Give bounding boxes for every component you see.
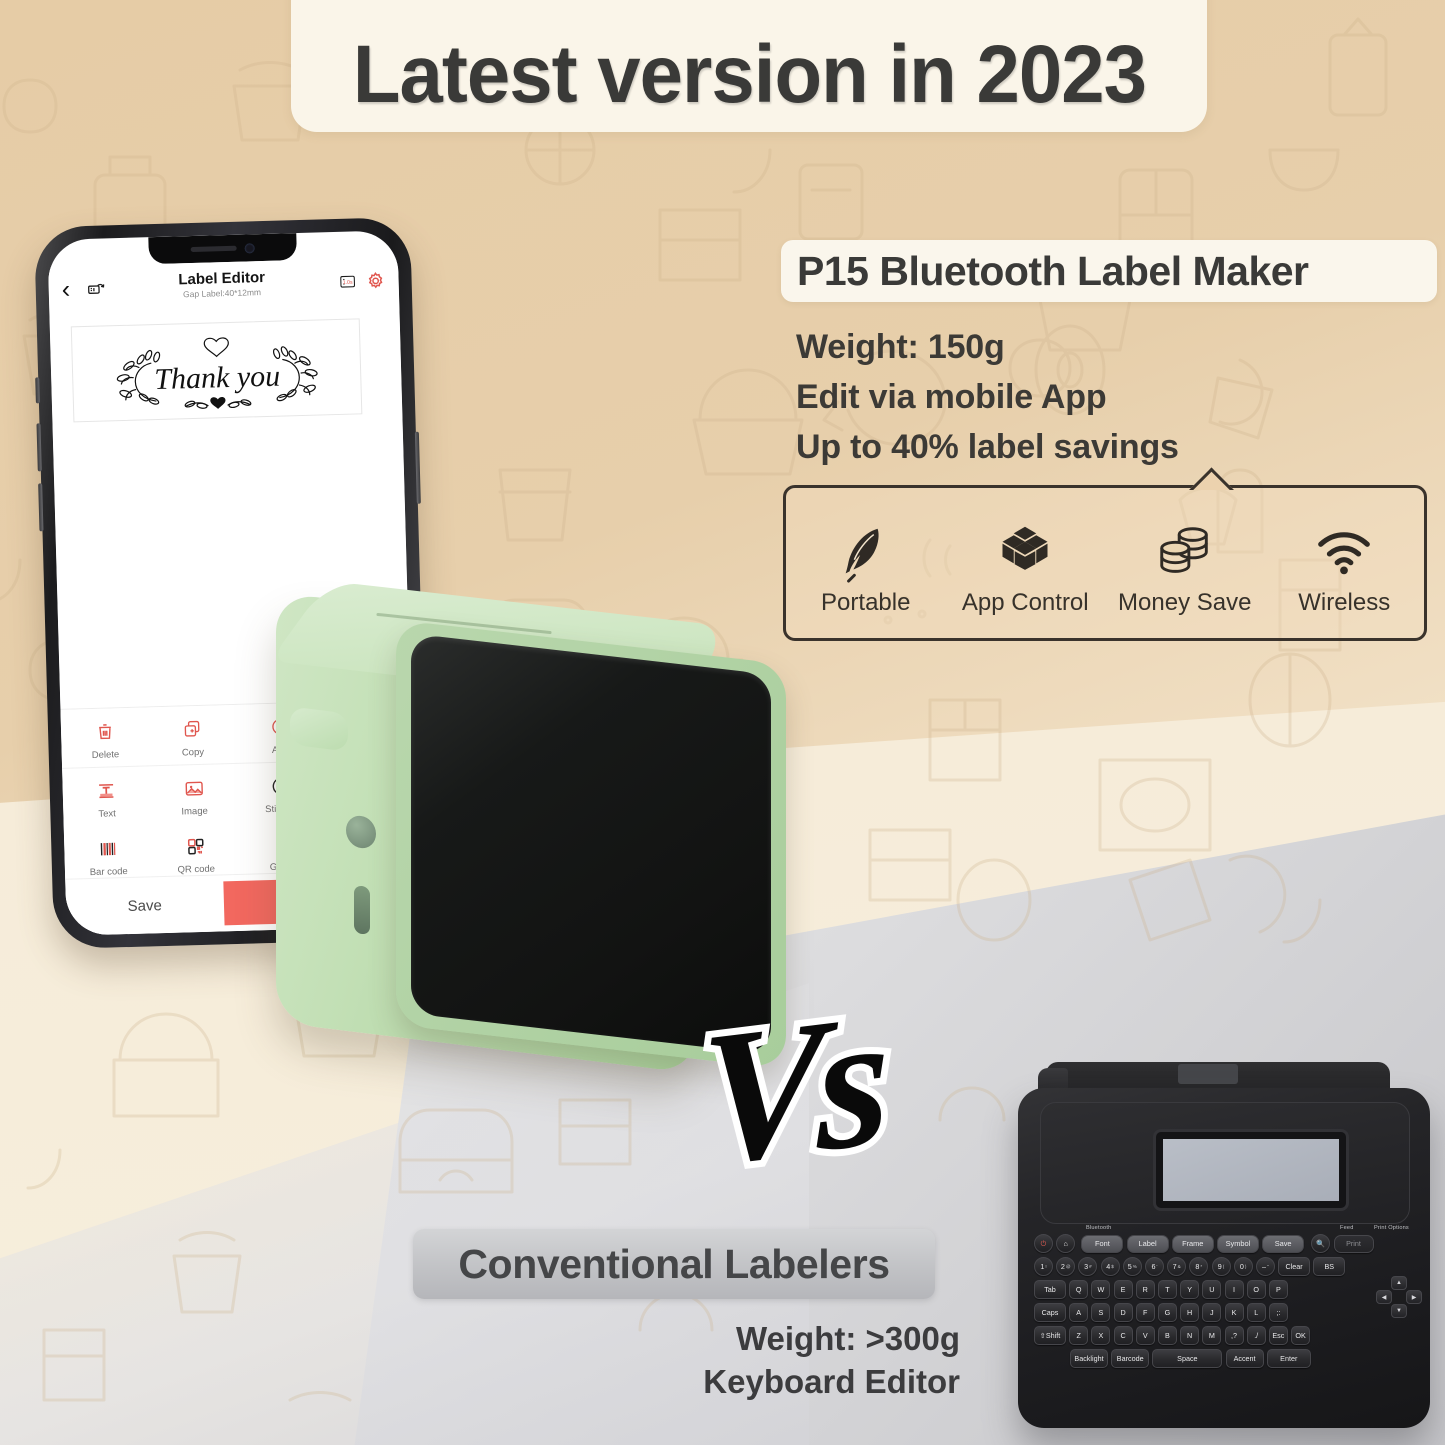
key-group-label-feed: Feed bbox=[1340, 1225, 1354, 1231]
dpad-up-icon[interactable]: ▲ bbox=[1391, 1276, 1407, 1290]
key-b[interactable]: B bbox=[1158, 1326, 1177, 1345]
key-enter[interactable]: Enter bbox=[1267, 1349, 1311, 1368]
qrcode-icon bbox=[185, 833, 207, 860]
key-shift[interactable]: ⇧Shift bbox=[1034, 1326, 1066, 1345]
poster-canvas: Latest version in 2023 ‹ bbox=[0, 0, 1445, 1445]
key-o[interactable]: O bbox=[1247, 1280, 1266, 1299]
key-y[interactable]: Y bbox=[1180, 1280, 1199, 1299]
keyboard-row-q: Tab Q W E R T Y U I O P bbox=[1034, 1280, 1426, 1299]
tool-label: Delete bbox=[92, 749, 120, 761]
tool-text[interactable]: Text bbox=[62, 776, 151, 820]
coins-icon bbox=[1154, 509, 1216, 583]
key-i[interactable]: I bbox=[1225, 1280, 1244, 1299]
conventional-weight: Weight: >300g bbox=[560, 1318, 960, 1361]
trash-icon bbox=[94, 718, 115, 745]
feature-app-control: App Control bbox=[946, 488, 1106, 638]
key-1[interactable]: 1! bbox=[1034, 1257, 1053, 1276]
labeler-keyboard: Bluetooth Feed Print Options ⏻ ⌂ Font La… bbox=[1034, 1232, 1426, 1444]
key-z[interactable]: Z bbox=[1069, 1326, 1088, 1345]
feather-icon bbox=[835, 509, 897, 583]
key-clear[interactable]: Clear bbox=[1278, 1257, 1310, 1276]
key-3[interactable]: 3# bbox=[1078, 1257, 1097, 1276]
labeler-lcd-screen bbox=[1163, 1139, 1339, 1201]
key-u[interactable]: U bbox=[1202, 1280, 1221, 1299]
key-font[interactable]: Font bbox=[1081, 1235, 1123, 1253]
phone-notch bbox=[148, 233, 297, 264]
key-home-bluetooth[interactable]: ⌂ bbox=[1056, 1234, 1075, 1253]
feature-label: Money Save bbox=[1118, 589, 1251, 617]
tool-image[interactable]: Image bbox=[150, 774, 239, 818]
feature-wireless: Wireless bbox=[1265, 488, 1425, 638]
key-comma[interactable]: ,? bbox=[1225, 1326, 1244, 1345]
dpad-cluster: ▲ ◀ ▶ ▼ bbox=[1376, 1276, 1420, 1316]
key-2[interactable]: 2@ bbox=[1056, 1257, 1075, 1276]
key-r[interactable]: R bbox=[1136, 1280, 1155, 1299]
label-frame-icon[interactable]: 1.0s bbox=[337, 271, 358, 292]
key-e[interactable]: E bbox=[1114, 1280, 1133, 1299]
key-6[interactable]: 6' bbox=[1145, 1257, 1164, 1276]
printer-usb-port bbox=[354, 885, 370, 935]
text-icon bbox=[96, 777, 118, 804]
product-name: P15 Bluetooth Label Maker bbox=[797, 248, 1309, 295]
vs-graphic: Vs bbox=[700, 995, 1020, 1225]
key-d[interactable]: D bbox=[1114, 1303, 1133, 1322]
key-ok[interactable]: OK bbox=[1291, 1326, 1310, 1345]
save-button[interactable]: Save bbox=[66, 895, 224, 916]
key-w[interactable]: W bbox=[1091, 1280, 1110, 1299]
thank-you-artwork: Thank you bbox=[75, 321, 357, 419]
image-icon bbox=[183, 775, 205, 802]
tool-copy[interactable]: Copy bbox=[148, 715, 237, 759]
tool-qrcode[interactable]: QR code bbox=[151, 832, 240, 876]
barcode-icon bbox=[97, 835, 119, 862]
keyboard-number-row: 1! 2@ 3# 4$ 5% 6' 7& 8* 9( 0) –" Clear B… bbox=[1034, 1257, 1426, 1276]
key-feed-search[interactable]: 🔍 bbox=[1311, 1234, 1330, 1253]
labeler-lcd-bezel bbox=[1153, 1129, 1349, 1211]
printer-front-panel bbox=[411, 633, 771, 1054]
key-0[interactable]: 0) bbox=[1234, 1257, 1253, 1276]
dpad-down-icon[interactable]: ▼ bbox=[1391, 1304, 1407, 1318]
tool-delete[interactable]: Delete bbox=[61, 717, 150, 761]
key-5[interactable]: 5% bbox=[1123, 1257, 1142, 1276]
app-title-block: Label Editor Gap Label:40*12mm bbox=[106, 268, 338, 302]
key-8[interactable]: 8* bbox=[1189, 1257, 1208, 1276]
product-name-banner: P15 Bluetooth Label Maker bbox=[781, 240, 1437, 302]
key-backspace[interactable]: BS bbox=[1313, 1257, 1345, 1276]
key-g[interactable]: G bbox=[1158, 1303, 1177, 1322]
feature-label: App Control bbox=[962, 589, 1089, 617]
key-v[interactable]: V bbox=[1136, 1326, 1155, 1345]
wifi-icon bbox=[1313, 509, 1375, 583]
keyboard-bottom-row: Backlight Barcode Space Accent Enter bbox=[1034, 1349, 1426, 1368]
tool-barcode[interactable]: Bar code bbox=[64, 834, 153, 878]
key-7[interactable]: 7& bbox=[1167, 1257, 1186, 1276]
tool-label: Copy bbox=[182, 747, 204, 759]
key-l[interactable]: L bbox=[1247, 1303, 1266, 1322]
label-text: Thank you bbox=[153, 360, 280, 397]
feature-money-save: Money Save bbox=[1105, 488, 1265, 638]
key-p[interactable]: P bbox=[1269, 1280, 1288, 1299]
product-specs: Weight: 150g Edit via mobile App Up to 4… bbox=[796, 325, 1445, 476]
key-c[interactable]: C bbox=[1114, 1326, 1133, 1345]
cube-icon bbox=[995, 509, 1055, 583]
spec-edit: Edit via mobile App bbox=[796, 375, 1445, 419]
key-accent[interactable]: Accent bbox=[1226, 1349, 1264, 1368]
conventional-title-banner: Conventional Labelers bbox=[413, 1229, 935, 1299]
key-group-label-bluetooth: Bluetooth bbox=[1086, 1225, 1111, 1231]
key-m[interactable]: M bbox=[1202, 1326, 1221, 1345]
tool-label: Image bbox=[181, 806, 208, 818]
key-f[interactable]: F bbox=[1136, 1303, 1155, 1322]
earpiece-speaker bbox=[191, 246, 237, 252]
key-backlight[interactable]: Backlight bbox=[1070, 1349, 1108, 1368]
key-tab[interactable]: Tab bbox=[1034, 1280, 1066, 1299]
conventional-labeler: Bluetooth Feed Print Options ⏻ ⌂ Font La… bbox=[1010, 1062, 1435, 1432]
key-frame[interactable]: Frame bbox=[1172, 1235, 1214, 1253]
spec-savings: Up to 40% label savings bbox=[796, 425, 1445, 469]
key-esc[interactable]: Esc bbox=[1269, 1326, 1288, 1345]
tool-label: Text bbox=[98, 808, 116, 819]
key-q[interactable]: Q bbox=[1069, 1280, 1088, 1299]
key-x[interactable]: X bbox=[1091, 1326, 1110, 1345]
copy-icon bbox=[182, 716, 203, 743]
key-period[interactable]: ./ bbox=[1247, 1326, 1266, 1345]
label-preview[interactable]: Thank you bbox=[71, 318, 363, 422]
labeler-display-panel bbox=[1040, 1102, 1410, 1224]
key-minus[interactable]: –" bbox=[1256, 1257, 1275, 1276]
key-label[interactable]: Label bbox=[1127, 1235, 1169, 1253]
conventional-editor: Keyboard Editor bbox=[560, 1361, 960, 1404]
labeler-body: Bluetooth Feed Print Options ⏻ ⌂ Font La… bbox=[1018, 1088, 1430, 1428]
key-barcode[interactable]: Barcode bbox=[1111, 1349, 1149, 1368]
rotate-label-icon[interactable] bbox=[86, 278, 107, 299]
key-4[interactable]: 4$ bbox=[1101, 1257, 1120, 1276]
key-k[interactable]: K bbox=[1225, 1303, 1244, 1322]
key-power[interactable]: ⏻ bbox=[1034, 1234, 1053, 1253]
key-symbol[interactable]: Symbol bbox=[1217, 1235, 1259, 1253]
key-t[interactable]: T bbox=[1158, 1280, 1177, 1299]
conventional-specs: Weight: >300g Keyboard Editor bbox=[560, 1318, 960, 1404]
key-h[interactable]: H bbox=[1180, 1303, 1199, 1322]
vs-label: Vs bbox=[699, 983, 882, 1196]
key-semicolon[interactable]: ;: bbox=[1269, 1303, 1288, 1322]
hero-title-banner: Latest version in 2023 bbox=[291, 0, 1207, 132]
conventional-title: Conventional Labelers bbox=[458, 1241, 889, 1288]
key-space[interactable]: Space bbox=[1152, 1349, 1222, 1368]
keyboard-row-z: ⇧Shift Z X C V B N M ,? ./ Esc OK bbox=[1034, 1326, 1426, 1345]
feature-label: Portable bbox=[821, 589, 910, 617]
key-group-label-print-options: Print Options bbox=[1374, 1225, 1409, 1231]
page-title: Latest version in 2023 bbox=[352, 34, 1145, 132]
front-camera bbox=[245, 243, 255, 253]
back-chevron-icon[interactable]: ‹ bbox=[61, 277, 70, 302]
key-a[interactable]: A bbox=[1069, 1303, 1088, 1322]
feature-label: Wireless bbox=[1298, 589, 1390, 617]
feature-portable: Portable bbox=[786, 488, 946, 638]
svg-text:1.0s: 1.0s bbox=[343, 280, 353, 286]
dpad-left-icon[interactable]: ◀ bbox=[1376, 1290, 1392, 1304]
feature-panel-pointer bbox=[1180, 462, 1240, 490]
keyboard-function-row: ⏻ ⌂ Font Label Frame Symbol Save 🔍 Print bbox=[1034, 1234, 1426, 1253]
key-save[interactable]: Save bbox=[1262, 1235, 1304, 1253]
dpad-right-icon[interactable]: ▶ bbox=[1406, 1290, 1422, 1304]
feature-panel: Portable App Control bbox=[783, 485, 1427, 641]
labeler-lid-tab bbox=[1178, 1064, 1238, 1084]
spec-weight: Weight: 150g bbox=[796, 325, 1445, 369]
key-print[interactable]: Print bbox=[1334, 1235, 1374, 1253]
key-j[interactable]: J bbox=[1202, 1303, 1221, 1322]
keyboard-row-a: Caps A S D F G H J K L ;: bbox=[1034, 1303, 1426, 1322]
key-s[interactable]: S bbox=[1091, 1303, 1110, 1322]
phone-mute-switch[interactable] bbox=[35, 377, 40, 403]
gear-icon[interactable] bbox=[365, 271, 386, 292]
key-caps[interactable]: Caps bbox=[1034, 1303, 1066, 1322]
key-n[interactable]: N bbox=[1180, 1326, 1199, 1345]
key-9[interactable]: 9( bbox=[1212, 1257, 1231, 1276]
